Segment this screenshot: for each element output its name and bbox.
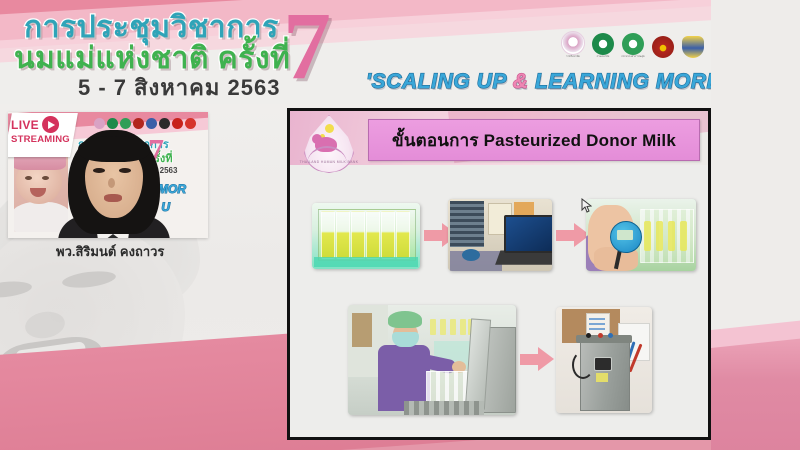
blue-gold-pillar-logo xyxy=(680,27,706,59)
human-milk-bank-logo: THAILAND HUMAN MILK BANK xyxy=(298,115,360,177)
video-banner-logos xyxy=(94,118,196,129)
conference-date: 5 - 7 สิงหาคม 2563 xyxy=(78,70,280,104)
slide-title: ขั้นตอนการ Pasteurized Donor Milk xyxy=(392,127,676,154)
green-health-logo: กระทรวงสาธารณสุข xyxy=(620,27,646,59)
human-milk-bank-caption: THAILAND HUMAN MILK BANK xyxy=(297,160,361,164)
slide-canvas: การประชุมวิชาการ นมแม่แห่งชาติ ครั้งที่ … xyxy=(0,0,800,450)
streaming-label: STREAMING xyxy=(11,134,75,145)
right-white-strip xyxy=(711,0,800,332)
digital-timer-in-hand-photo xyxy=(586,199,696,271)
slide-content-panel: THAILAND HUMAN MILK BANK ขั้นตอนการ Past… xyxy=(287,108,711,440)
conference-header: การประชุมวิชาการ นมแม่แห่งชาติ ครั้งที่ … xyxy=(0,0,800,104)
royal-emblem-logo: ราชวิทยาลัย xyxy=(560,27,586,59)
step-arrow-2 xyxy=(556,223,590,247)
play-icon xyxy=(42,116,59,133)
conference-tagline: 'SCALING UP & LEARNING MORE' xyxy=(366,70,727,94)
nurse-loading-pasteurizer-photo xyxy=(348,305,516,415)
tagline-ampersand: & xyxy=(513,70,529,93)
milk-bottle-racks-photo xyxy=(312,203,420,269)
slide-title-box: ขั้นตอนการ Pasteurized Donor Milk xyxy=(368,119,700,161)
live-video-tile[interactable]: การประชุมวิชาการ นมแม่แห่งชาติ ครั้งที่ … xyxy=(8,112,208,238)
pasteurizer-machine-photo xyxy=(556,307,652,413)
bottom-right-pink-corner xyxy=(711,330,800,450)
red-gold-emblem-logo xyxy=(650,27,676,59)
green-circle-logo: กรมอนามัย xyxy=(590,27,616,59)
speaker-name: พว.สิริมนต์ คงถาวร xyxy=(56,241,164,262)
conference-edition-number: 7 xyxy=(283,0,331,94)
tagline-pre: 'SCALING UP xyxy=(366,70,513,93)
mouse-cursor-icon xyxy=(581,198,592,213)
laptop-workstation-photo xyxy=(448,199,552,271)
milk-drop-highlight xyxy=(325,124,334,133)
live-streaming-badge: LIVE STREAMING xyxy=(8,113,78,157)
live-label: LIVE xyxy=(11,118,39,132)
step-arrow-3 xyxy=(520,347,554,371)
tagline-post: LEARNING MORE' xyxy=(529,70,727,93)
